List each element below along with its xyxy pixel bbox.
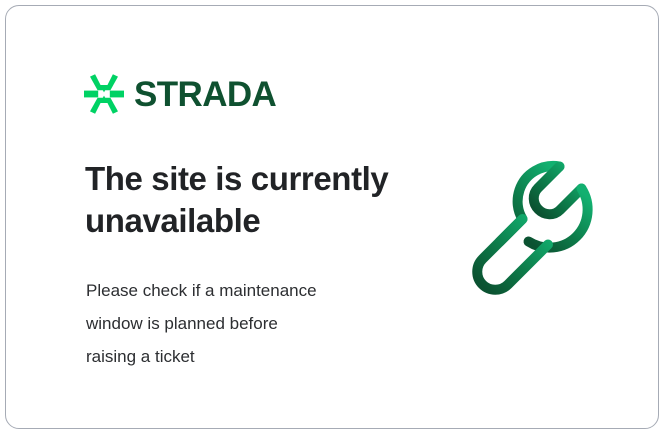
- strada-asterisk-mark-icon: [84, 74, 124, 114]
- maintenance-page: STRADA The site is currently unavailable…: [0, 0, 666, 436]
- description-line: Please check if a maintenance: [86, 274, 406, 307]
- description-line: window is planned before: [86, 307, 406, 340]
- page-description: Please check if a maintenance window is …: [86, 274, 406, 373]
- brand-logo: STRADA: [84, 74, 276, 114]
- brand-wordmark: STRADA: [134, 77, 276, 112]
- message-card: STRADA The site is currently unavailable…: [5, 5, 659, 429]
- description-line: raising a ticket: [86, 340, 406, 373]
- page-title: The site is currently unavailable: [85, 158, 415, 242]
